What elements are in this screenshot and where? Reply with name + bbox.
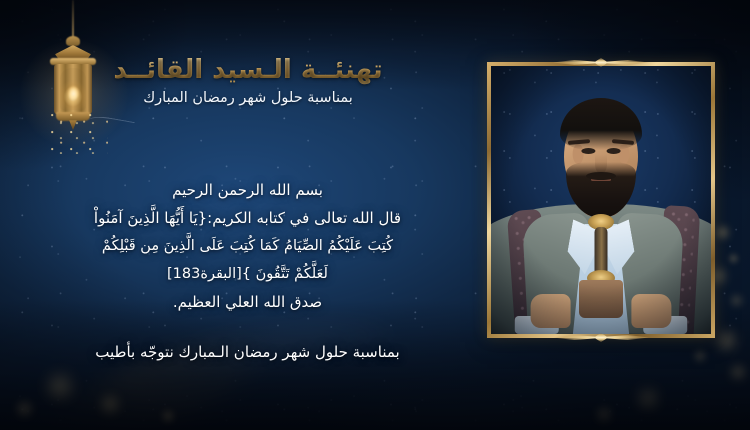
portrait-gold-frame [487,62,715,338]
greeting-card-canvas: تهنئــة الـسيد القائــد بمناسبة حلول شهر… [0,0,750,430]
message-line-sadaqa: صدق الله العلي العظيم. [35,288,460,316]
message-line-basmala: بسم الله الرحمن الرحيم [35,176,460,204]
title-block: تهنئــة الـسيد القائــد بمناسبة حلول شهر… [98,54,398,107]
page-subtitle: بمناسبة حلول شهر رمضان المبارك [98,89,398,108]
message-line-closing: بمناسبة حلول شهر رمضان الـمبارك نتوجّه ب… [35,338,460,366]
ramadan-lantern-icon [42,0,106,150]
message-line-intro: قال الله تعالى في كتابه الكريم:{يَا أَيُ… [35,204,460,232]
message-line-verse-2: لَعَلَّكُمْ تَتَّقُونَ }[البقرة183] [35,260,460,288]
lantern-cord [72,0,74,40]
page-title: تهنئــة الـسيد القائــد [98,54,398,87]
message-body: بسم الله الرحمن الرحيم قال الله تعالى في… [35,176,460,366]
message-line-verse-1: كُتِبَ عَلَيْكُمُ الصِّيَامُ كَمَا كُتِب… [35,232,460,260]
lantern-flame [68,86,79,99]
portrait-vignette [491,66,711,334]
leader-portrait [491,66,711,334]
lantern-hook [66,36,80,46]
